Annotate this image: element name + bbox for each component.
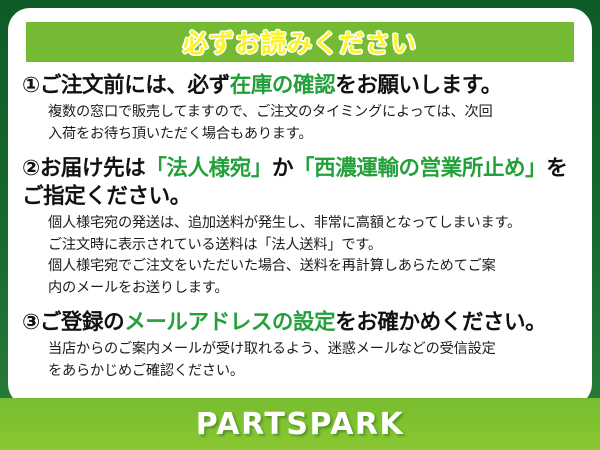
notice-item-3-heading-highlight: メールアドレスの設定	[124, 310, 335, 335]
notice-item-1: ①ご注文前には、必ず在庫の確認をお願いします。 複数の窓口で販売してますので、ご…	[22, 72, 588, 145]
notice-item-1-marker: ①	[22, 73, 40, 98]
notice-card: 必ずお読みください ①ご注文前には、必ず在庫の確認をお願いします。 複数の窓口で…	[8, 8, 592, 406]
notice-item-2-body: 個人様宅宛の発送は、追加送料が発生し、非常に高額となってしまいます。 ご注文時に…	[22, 213, 588, 299]
footer-brand-bar: PARTSPARK	[0, 398, 600, 450]
notice-item-1-body: 複数の窓口で販売してますので、ご注文のタイミングによっては、次回 入荷をお待ち頂…	[22, 102, 588, 145]
notice-item-1-body-line-1: 複数の窓口で販売してますので、ご注文のタイミングによっては、次回	[48, 102, 588, 124]
notice-item-2: ②お届け先は「法人様宛」か「西濃運輸の営業所止め」をご指定ください。 個人様宅宛…	[22, 155, 588, 299]
notice-item-1-body-line-2: 入荷をお待ち頂いただく場合もあります。	[48, 124, 588, 146]
notice-item-3-heading: ③ご登録のメールアドレスの設定をお確かめください。	[22, 309, 588, 338]
notice-frame: 必ずお読みください ①ご注文前には、必ず在庫の確認をお願いします。 複数の窓口で…	[0, 0, 600, 450]
notice-content: ①ご注文前には、必ず在庫の確認をお願いします。 複数の窓口で販売してますので、ご…	[22, 70, 588, 386]
notice-item-2-body-line-3: 個人様宅宛でご注文をいただいた場合、送料を再計算しあらためてご案	[48, 256, 588, 278]
notice-item-2-body-line-2: ご注文時に表示されている送料は「法人送料」です。	[48, 235, 588, 257]
notice-item-2-heading-mid: か	[272, 156, 293, 181]
notice-item-1-heading: ①ご注文前には、必ず在庫の確認をお願いします。	[22, 72, 588, 101]
notice-item-3-body-line-1: 当店からのご案内メールが受け取れるよう、迷惑メールなどの受信設定	[48, 339, 588, 361]
notice-item-1-heading-highlight: 在庫の確認	[230, 73, 336, 98]
notice-item-2-marker: ②	[22, 156, 40, 181]
notice-item-1-heading-part2: をお願いします。	[335, 73, 502, 98]
notice-item-2-heading: ②お届け先は「法人様宛」か「西濃運輸の営業所止め」をご指定ください。	[22, 155, 588, 212]
brand-name: PARTSPARK	[196, 407, 405, 442]
notice-item-3: ③ご登録のメールアドレスの設定をお確かめください。 当店からのご案内メールが受け…	[22, 309, 588, 382]
notice-item-2-body-line-4: 内のメールをお送りします。	[48, 278, 588, 300]
notice-item-3-heading-part1: ご登録の	[40, 310, 124, 335]
notice-item-3-body: 当店からのご案内メールが受け取れるよう、迷惑メールなどの受信設定 をあらかじめご…	[22, 339, 588, 382]
notice-item-3-marker: ③	[22, 310, 40, 335]
notice-item-3-heading-part2: をお確かめください。	[335, 310, 546, 335]
notice-item-2-heading-highlight-2: 「西濃運輸の営業所止め」	[293, 156, 546, 181]
notice-item-2-heading-part1: お届け先は	[40, 156, 146, 181]
notice-item-3-body-line-2: をあらかじめご確認ください。	[48, 361, 588, 383]
notice-item-2-heading-highlight: 「法人様宛」	[145, 156, 272, 181]
notice-item-1-heading-part1: ご注文前には、必ず	[40, 73, 230, 98]
notice-title-bar: 必ずお読みください	[26, 22, 574, 62]
notice-item-2-body-line-1: 個人様宅宛の発送は、追加送料が発生し、非常に高額となってしまいます。	[48, 213, 588, 235]
notice-title: 必ずお読みください	[183, 24, 417, 60]
